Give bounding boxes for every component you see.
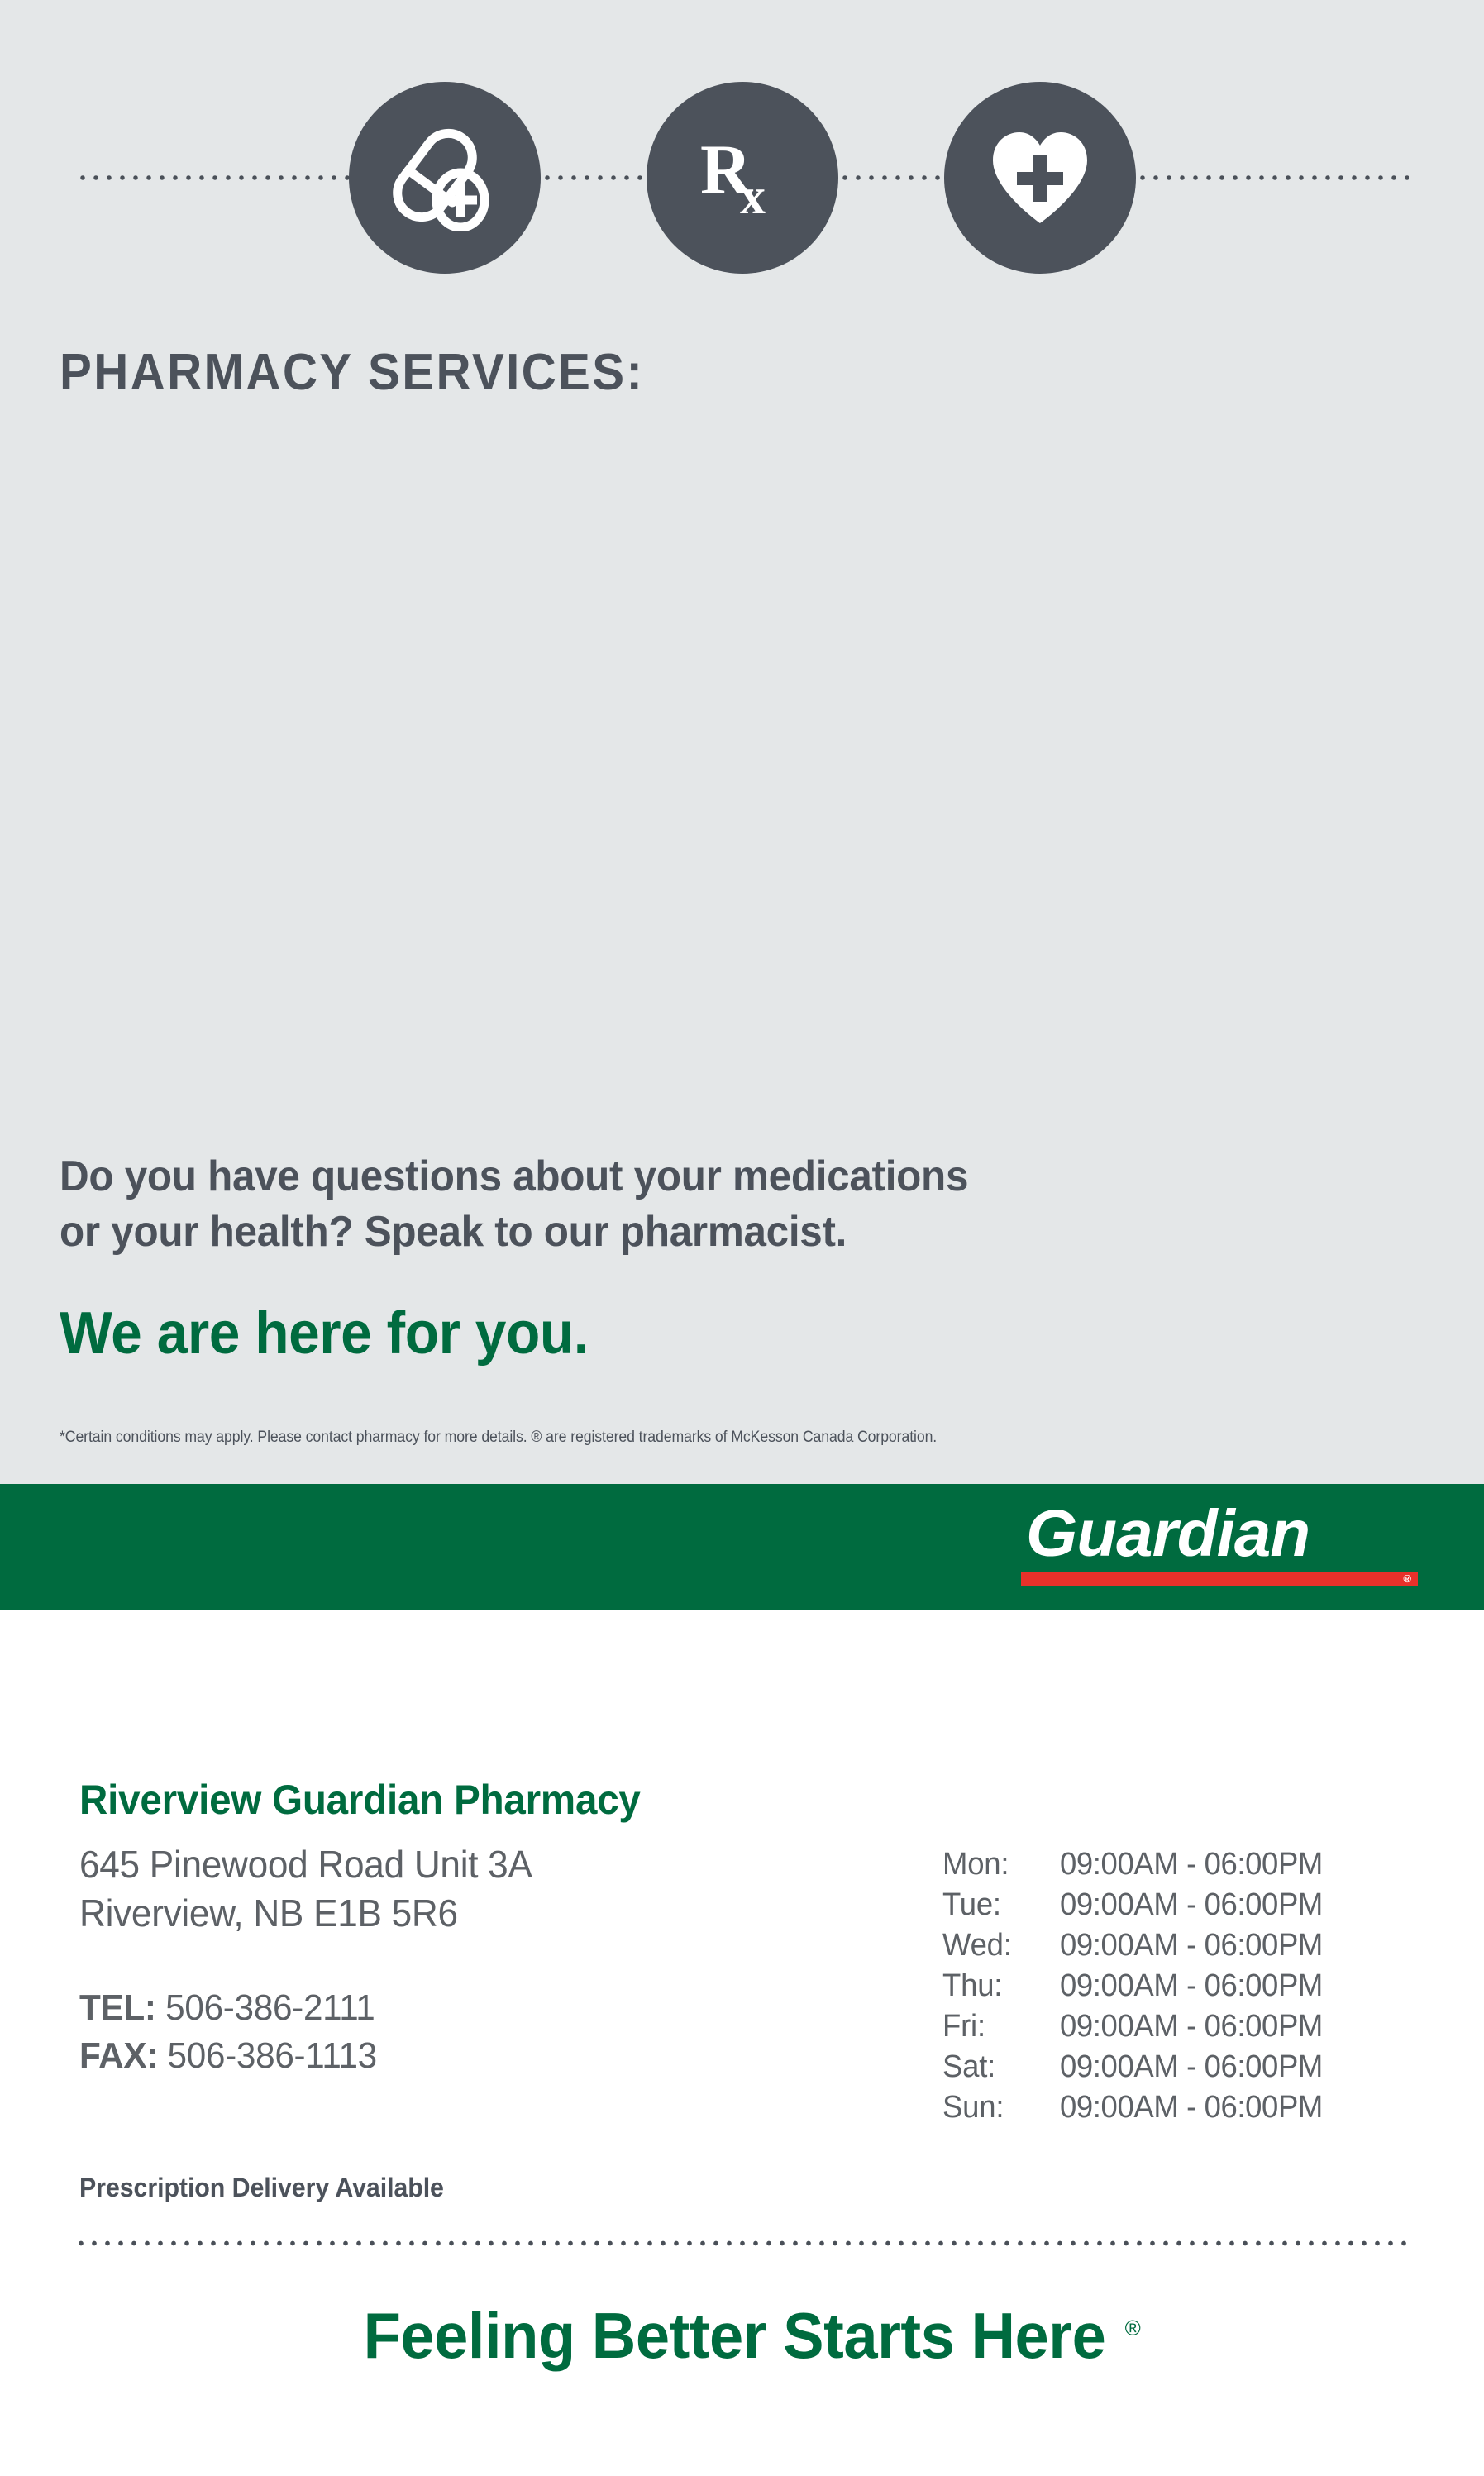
rx-icon: R x — [647, 82, 838, 274]
store-hours-table: Mon: 09:00AM - 06:00PM Tue: 09:00AM - 06… — [942, 1849, 1334, 2132]
delivery-note: Prescription Delivery Available — [79, 2173, 444, 2203]
hours-time: 09:00AM - 06:00PM — [1060, 2011, 1323, 2042]
hours-row: Sat: 09:00AM - 06:00PM — [942, 2051, 1334, 2082]
address-line-2: Riverview, NB E1B 5R6 — [79, 1889, 532, 1938]
top-panel: R x PHARMACY SERVICES: Do you have quest… — [0, 0, 1484, 1484]
telephone-row: TEL: 506-386-2111 — [79, 1984, 377, 2032]
hours-row: Sun: 09:00AM - 06:00PM — [942, 2092, 1334, 2123]
question-line-1: Do you have questions about your medicat… — [60, 1149, 1238, 1205]
hours-row: Fri: 09:00AM - 06:00PM — [942, 2011, 1334, 2042]
store-contact: TEL: 506-386-2111 FAX: 506-386-1113 — [79, 1984, 389, 2080]
question-callout: Do you have questions about your medicat… — [60, 1149, 1300, 1259]
hours-time: 09:00AM - 06:00PM — [1060, 1849, 1323, 1880]
hours-day: Tue: — [942, 1889, 1055, 1920]
hours-time: 09:00AM - 06:00PM — [1060, 1930, 1323, 1961]
hours-time: 09:00AM - 06:00PM — [1060, 1889, 1323, 1920]
fax-value[interactable]: 506-386-1113 — [168, 2035, 377, 2076]
page-title: PHARMACY SERVICES: — [60, 343, 644, 402]
store-name: Riverview Guardian Pharmacy — [79, 1776, 641, 1824]
hours-row: Wed: 09:00AM - 06:00PM — [942, 1930, 1334, 1961]
hours-day: Mon: — [942, 1849, 1055, 1880]
hours-day: Fri: — [942, 2011, 1055, 2042]
dotted-connector-mid-1 — [541, 175, 647, 180]
dotted-connector-right — [1136, 175, 1409, 180]
hours-row: Tue: 09:00AM - 06:00PM — [942, 1889, 1334, 1920]
store-address: 645 Pinewood Road Unit 3A Riverview, NB … — [79, 1840, 551, 1938]
hours-time: 09:00AM - 06:00PM — [1060, 2092, 1323, 2123]
svg-text:x: x — [740, 169, 766, 225]
dotted-connector-mid-2 — [838, 175, 944, 180]
telephone-value[interactable]: 506-386-2111 — [165, 1987, 375, 2028]
guardian-logo: Guardian ® — [1021, 1500, 1418, 1586]
hours-row: Thu: 09:00AM - 06:00PM — [942, 1970, 1334, 2001]
footer-tagline: Feeling Better Starts Here® — [0, 2298, 1484, 2373]
registered-trademark-icon: ® — [1403, 1572, 1411, 1586]
hours-day: Sat: — [942, 2051, 1055, 2082]
brand-bar: Guardian ® — [0, 1484, 1484, 1610]
telephone-label: TEL: — [79, 1987, 156, 2028]
guardian-red-rule: ® — [1021, 1572, 1418, 1586]
hours-day: Thu: — [942, 1970, 1055, 2001]
question-line-2: or your health? Speak to our pharmacist. — [60, 1205, 1238, 1260]
hours-day: Wed: — [942, 1930, 1055, 1961]
icon-strip: R x — [0, 83, 1484, 273]
services-list — [60, 463, 1424, 1091]
fax-row: FAX: 506-386-1113 — [79, 2032, 377, 2080]
address-line-1: 645 Pinewood Road Unit 3A — [79, 1840, 532, 1889]
pills-plus-icon — [349, 82, 541, 274]
dotted-divider — [74, 2240, 1410, 2246]
dotted-connector-left — [76, 175, 349, 180]
footer-tagline-text: Feeling Better Starts Here — [363, 2298, 1105, 2373]
hours-time: 09:00AM - 06:00PM — [1060, 1970, 1323, 2001]
guardian-wordmark: Guardian — [1021, 1500, 1418, 1567]
legal-disclaimer: *Certain conditions may apply. Please co… — [60, 1429, 937, 1447]
fax-label: FAX: — [79, 2035, 158, 2076]
hours-day: Sun: — [942, 2092, 1055, 2123]
hours-time: 09:00AM - 06:00PM — [1060, 2051, 1323, 2082]
emphasis-statement: We are here for you. — [60, 1300, 589, 1367]
heart-plus-icon — [944, 82, 1136, 274]
registered-trademark-icon: ® — [1125, 2316, 1141, 2340]
hours-row: Mon: 09:00AM - 06:00PM — [942, 1849, 1334, 1880]
